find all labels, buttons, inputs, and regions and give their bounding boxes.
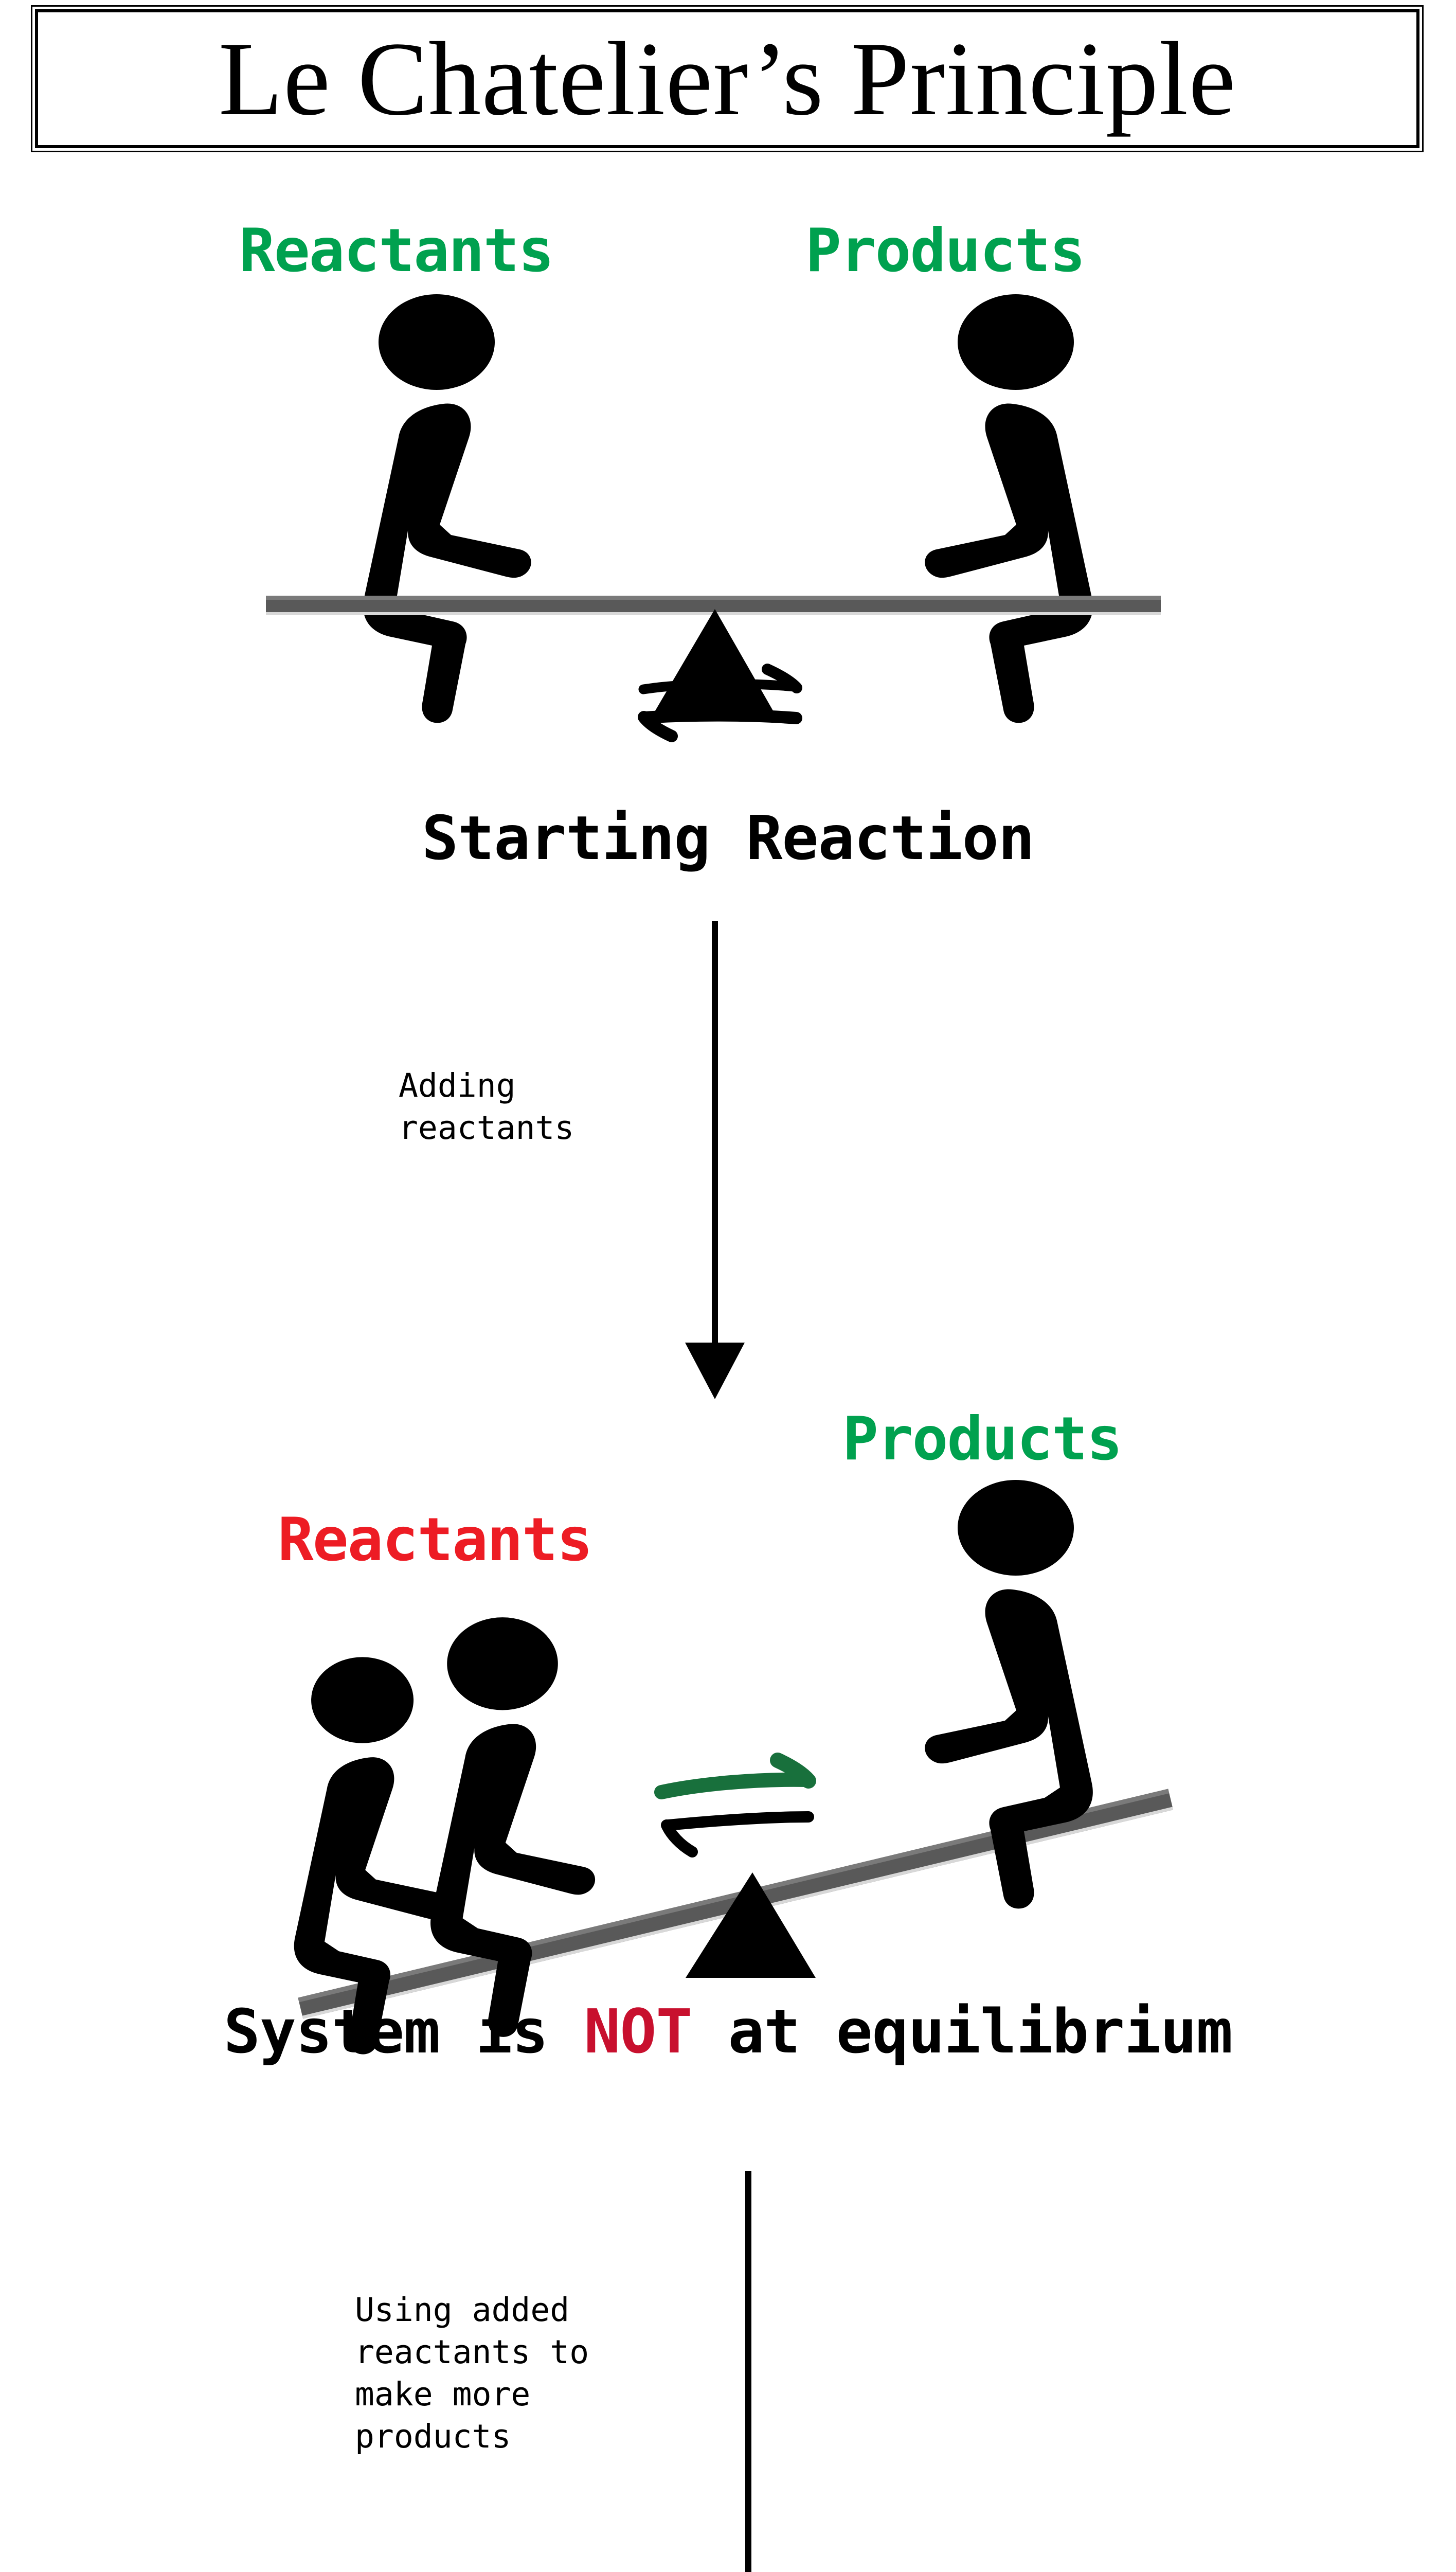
stage1-seesaw-scene: [0, 195, 1456, 895]
stage-starting-reaction: Reactants Products Star: [0, 195, 1456, 895]
title-box: Le Chatelier’s Principle: [35, 9, 1419, 148]
fulcrum-triangle-icon: [654, 609, 774, 712]
stick-figure-icon: [363, 294, 531, 723]
down-arrow-icon: [0, 921, 1456, 1435]
stage2-caption-before: System is: [224, 1996, 584, 2067]
stage-not-at-equilibrium: Products Reactants: [0, 1409, 1456, 2094]
connector-using-added-reactants: Using added reactants to make more produ…: [0, 2148, 1456, 2572]
connector-adding-reactants: Adding reactants: [0, 921, 1456, 1435]
page-title: Le Chatelier’s Principle: [219, 26, 1236, 132]
stick-figure-icon: [925, 294, 1093, 723]
stage2-caption-highlight: NOT: [584, 1996, 692, 2067]
stage1-caption: Starting Reaction: [0, 808, 1456, 868]
stage2-caption-after: at equilibrium: [692, 1996, 1232, 2067]
equilibrium-arrow-shifted-forward-icon: [661, 1760, 808, 1852]
down-arrow-icon: [0, 2148, 1456, 2572]
stage2-seesaw-scene: [0, 1409, 1456, 2094]
stage2-caption: System is NOT at equilibrium: [0, 2001, 1456, 2062]
